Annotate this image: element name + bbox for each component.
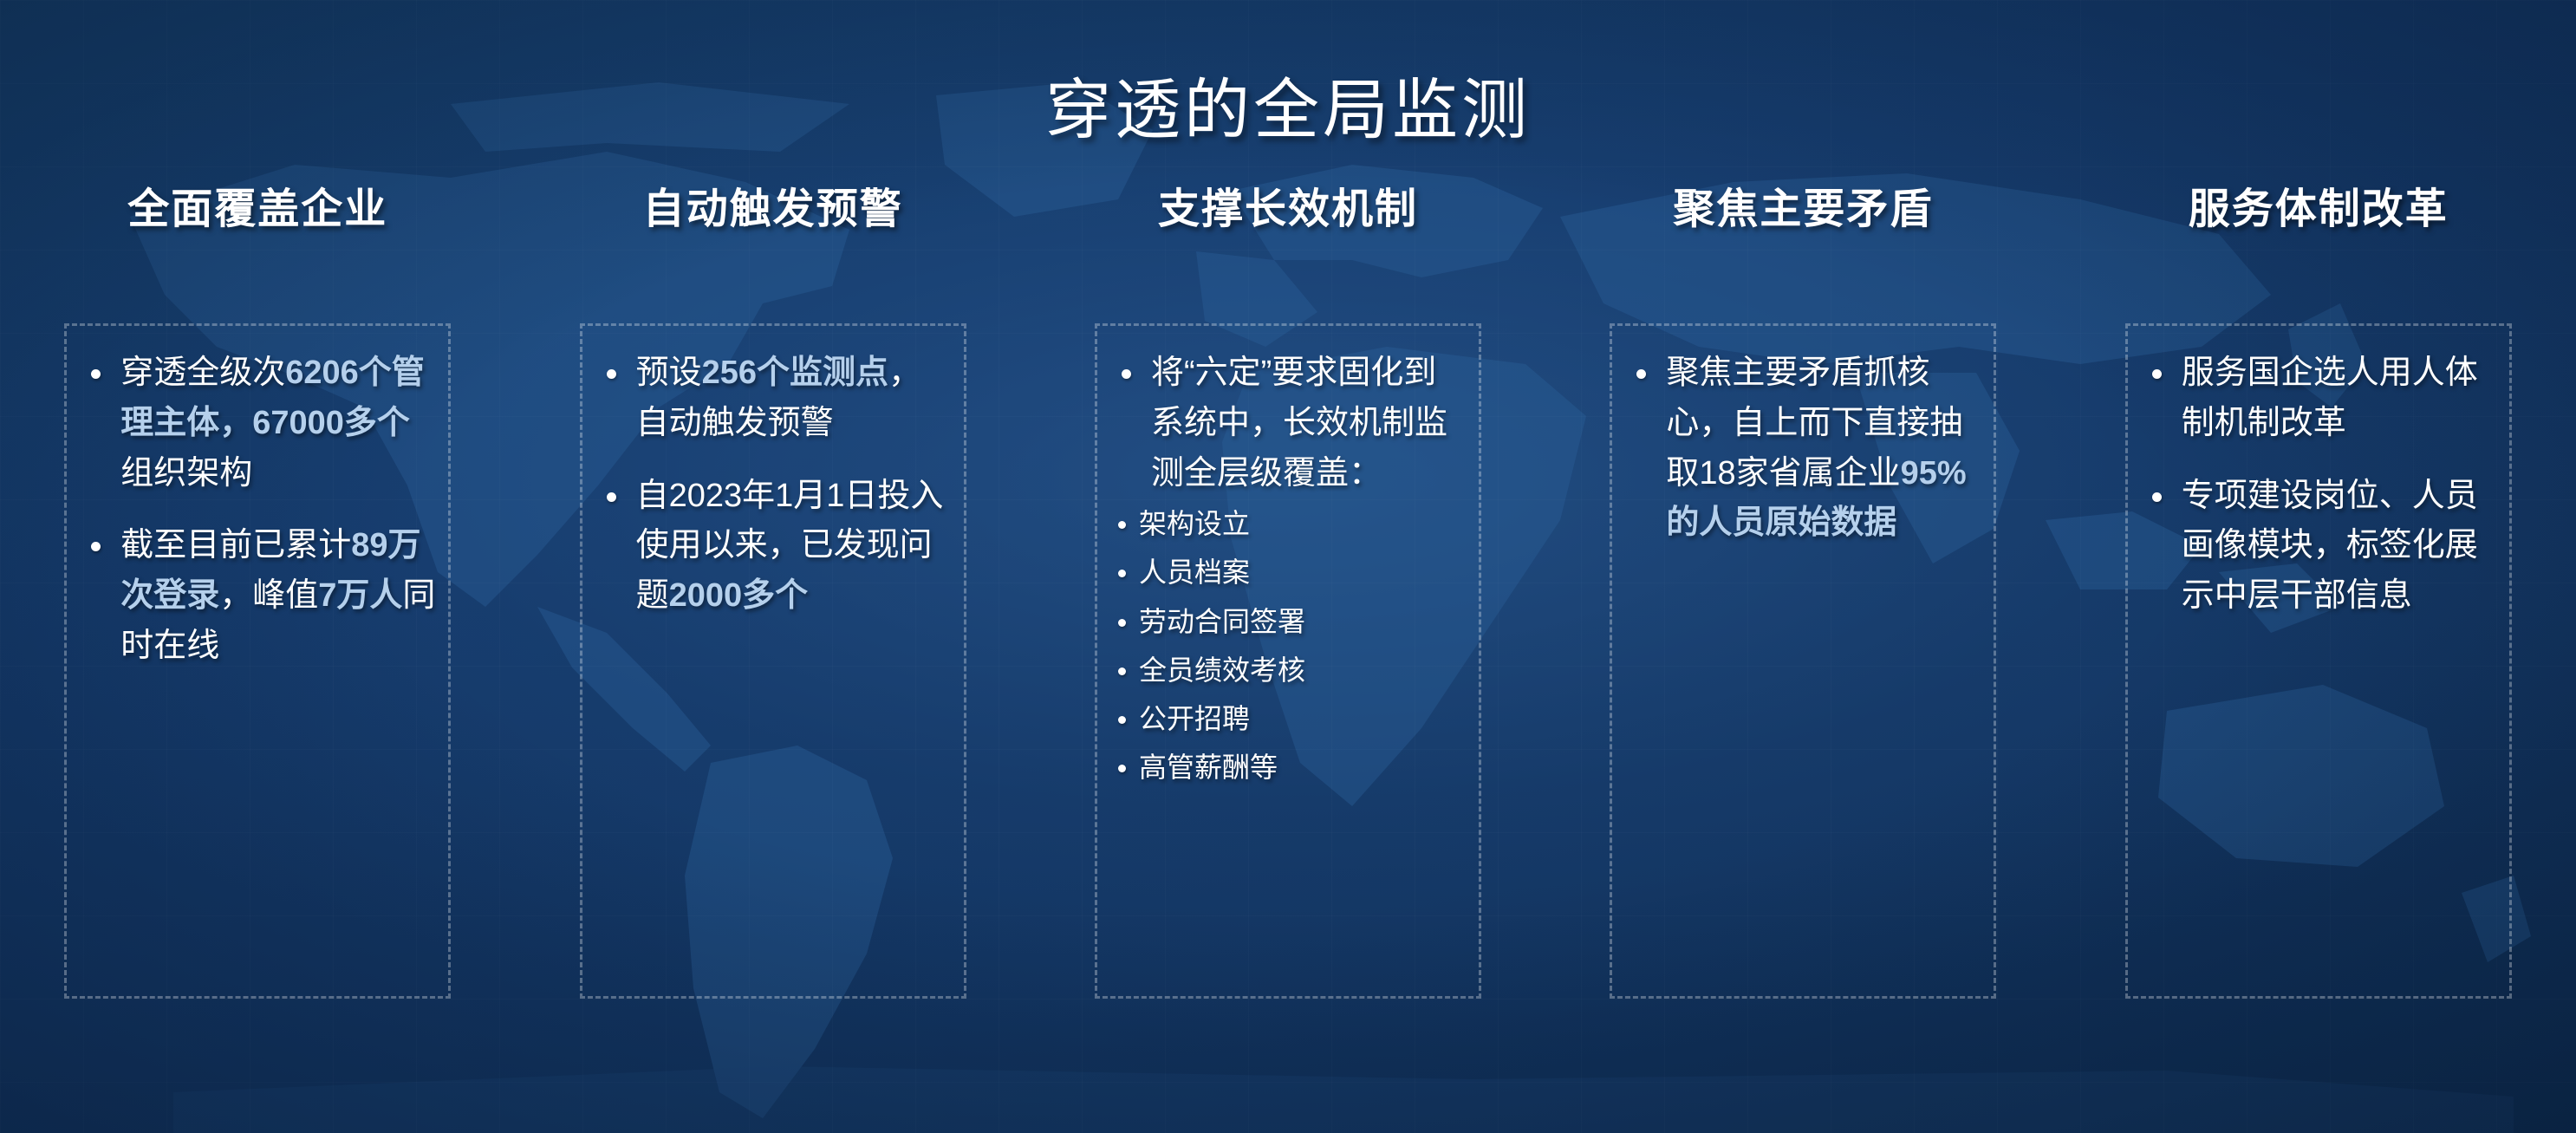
column-4-heading: 聚焦主要矛盾 bbox=[1545, 187, 2060, 274]
text-segment: ，峰值 bbox=[219, 577, 318, 614]
column-3-bullet-list: 将“六定”要求固化到系统中，长效机制监测全层级覆盖： bbox=[1109, 348, 1467, 498]
column-5-heading: 服务体制改革 bbox=[2061, 187, 2576, 274]
text-segment: 截至目前已累计 bbox=[120, 527, 351, 563]
slide-title: 穿透的全局监测 bbox=[0, 56, 2576, 152]
list-item: 自2023年1月1日投入使用以来，已发现问题2000多个 bbox=[595, 472, 952, 622]
column-3-sub-list: 架构设立 人员档案 劳动合同签署 全员绩效考核 公开招聘 高管薪酬等 bbox=[1109, 505, 1467, 785]
column-3-heading: 支撑长效机制 bbox=[1031, 187, 1545, 274]
list-item: 高管薪酬等 bbox=[1109, 749, 1467, 785]
highlight-segment: 2000多个 bbox=[669, 577, 809, 614]
list-item: 预设256个监测点，自动触发预警 bbox=[595, 348, 952, 449]
text-segment: 服务国企选人用人体制机制改革 bbox=[2182, 355, 2478, 441]
list-item: 服务国企选人用人体制机制改革 bbox=[2140, 348, 2497, 449]
list-item: 公开招聘 bbox=[1109, 700, 1467, 737]
column-1: 全面覆盖企业 穿透全级次6206个管理主体，67000多个组织架构 截至目前已累… bbox=[0, 187, 515, 1037]
column-5-box: 服务国企选人用人体制机制改革 专项建设岗位、人员画像模块，标签化展示中层干部信息 bbox=[2125, 323, 2512, 999]
column-1-bullet-list: 穿透全级次6206个管理主体，67000多个组织架构 截至目前已累计89万次登录… bbox=[79, 348, 436, 672]
list-item: 劳动合同签署 bbox=[1109, 603, 1467, 640]
column-3: 支撑长效机制 将“六定”要求固化到系统中，长效机制监测全层级覆盖： 架构设立 人… bbox=[1031, 187, 1545, 1037]
highlight-segment: 7万人 bbox=[318, 577, 402, 614]
list-item: 截至目前已累计89万次登录，峰值7万人同时在线 bbox=[79, 521, 436, 671]
slide-canvas: 穿透的全局监测 全面覆盖企业 穿透全级次6206个管理主体，67000多个组织架… bbox=[0, 0, 2576, 1133]
text-segment: 将“六定”要求固化到系统中，长效机制监测全层级覆盖： bbox=[1151, 355, 1447, 492]
text-segment: 预设 bbox=[636, 355, 702, 391]
highlight-segment: 256个监测点 bbox=[702, 355, 888, 391]
list-item: 穿透全级次6206个管理主体，67000多个组织架构 bbox=[79, 348, 436, 498]
columns-container: 全面覆盖企业 穿透全级次6206个管理主体，67000多个组织架构 截至目前已累… bbox=[0, 187, 2576, 1037]
column-5: 服务体制改革 服务国企选人用人体制机制改革 专项建设岗位、人员画像模块，标签化展… bbox=[2061, 187, 2576, 1037]
column-5-bullet-list: 服务国企选人用人体制机制改革 专项建设岗位、人员画像模块，标签化展示中层干部信息 bbox=[2140, 348, 2497, 622]
list-item: 专项建设岗位、人员画像模块，标签化展示中层干部信息 bbox=[2140, 472, 2497, 622]
column-3-box: 将“六定”要求固化到系统中，长效机制监测全层级覆盖： 架构设立 人员档案 劳动合… bbox=[1095, 323, 1481, 999]
column-4-box: 聚焦主要矛盾抓核心，自上而下直接抽取18家省属企业95%的人员原始数据 bbox=[1610, 323, 1996, 999]
column-4-bullet-list: 聚焦主要矛盾抓核心，自上而下直接抽取18家省属企业95%的人员原始数据 bbox=[1624, 348, 1981, 549]
text-segment: 穿透全级次 bbox=[120, 355, 285, 391]
text-segment: 组织架构 bbox=[120, 455, 252, 492]
column-2: 自动触发预警 预设256个监测点，自动触发预警 自2023年1月1日投入使用以来… bbox=[515, 187, 1030, 1037]
column-2-box: 预设256个监测点，自动触发预警 自2023年1月1日投入使用以来，已发现问题2… bbox=[580, 323, 966, 999]
column-4: 聚焦主要矛盾 聚焦主要矛盾抓核心，自上而下直接抽取18家省属企业95%的人员原始… bbox=[1545, 187, 2060, 1037]
list-item: 架构设立 bbox=[1109, 505, 1467, 542]
list-item: 人员档案 bbox=[1109, 554, 1467, 590]
text-segment: 专项建设岗位、人员画像模块，标签化展示中层干部信息 bbox=[2182, 478, 2478, 615]
column-1-box: 穿透全级次6206个管理主体，67000多个组织架构 截至目前已累计89万次登录… bbox=[64, 323, 451, 999]
column-2-bullet-list: 预设256个监测点，自动触发预警 自2023年1月1日投入使用以来，已发现问题2… bbox=[595, 348, 952, 622]
list-item: 聚焦主要矛盾抓核心，自上而下直接抽取18家省属企业95%的人员原始数据 bbox=[1624, 348, 1981, 549]
column-1-heading: 全面覆盖企业 bbox=[0, 187, 515, 274]
list-item: 将“六定”要求固化到系统中，长效机制监测全层级覆盖： bbox=[1109, 348, 1467, 498]
column-2-heading: 自动触发预警 bbox=[515, 187, 1030, 274]
list-item: 全员绩效考核 bbox=[1109, 652, 1467, 688]
